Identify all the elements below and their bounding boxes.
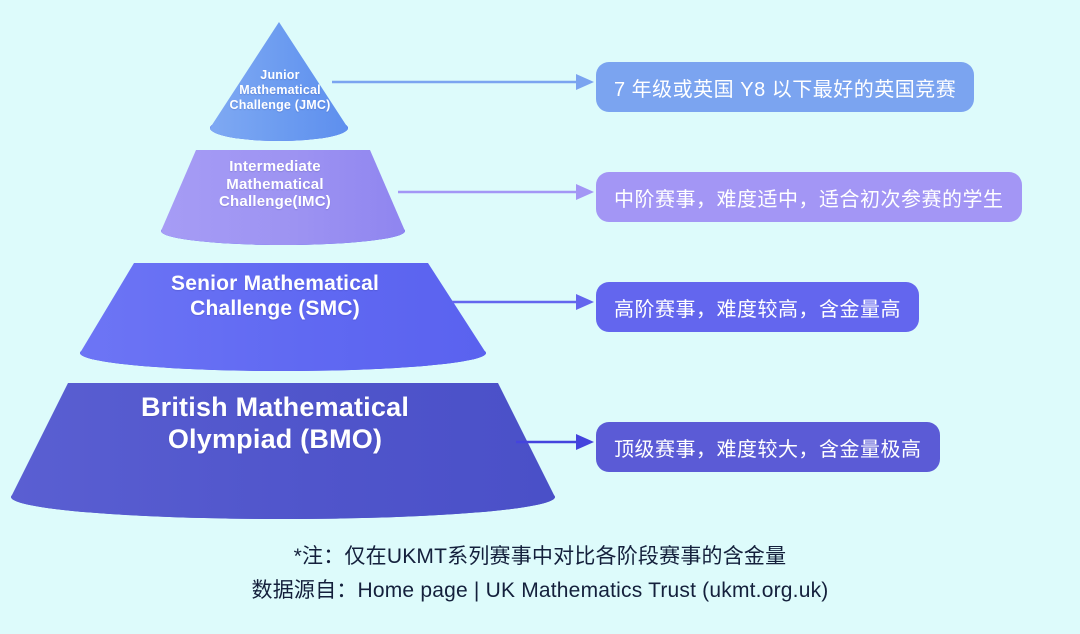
footer-source: 数据源自：Home page | UK Mathematics Trust (u… (0, 574, 1080, 608)
connector-arrow-smc (452, 291, 594, 313)
callout-text-smc: 高阶赛事，难度较高，含金量高 (614, 293, 901, 322)
callout-text-bmo: 顶级赛事，难度较大，含金量极高 (614, 433, 922, 462)
pyramid-tier-jmc (210, 22, 348, 141)
connector-arrow-imc (398, 181, 594, 203)
pyramid-tier-smc (80, 263, 486, 371)
pyramid-tier-imc (161, 150, 405, 245)
tier-face-smc (80, 263, 486, 371)
callout-text-jmc: 7 年级或英国 Y8 以下最好的英国竞赛 (614, 73, 956, 102)
connector-arrow-jmc (332, 71, 594, 93)
tier-face-bmo (11, 383, 555, 519)
pyramid-tier-bmo (11, 383, 555, 519)
callout-jmc: 7 年级或英国 Y8 以下最好的英国竞赛 (596, 62, 974, 112)
infographic-canvas: Junior Mathematical Challenge (JMC) Inte… (0, 0, 1080, 634)
tier-face-jmc (210, 22, 348, 141)
callout-imc: 中阶赛事，难度适中，适合初次参赛的学生 (596, 172, 1022, 222)
callout-text-imc: 中阶赛事，难度适中，适合初次参赛的学生 (614, 183, 1004, 212)
footer: *注：仅在UKMT系列赛事中对比各阶段赛事的含金量 数据源自：Home page… (0, 540, 1080, 608)
footer-note: *注：仅在UKMT系列赛事中对比各阶段赛事的含金量 (0, 540, 1080, 574)
callout-bmo: 顶级赛事，难度较大，含金量极高 (596, 422, 940, 472)
tier-face-imc (161, 150, 405, 245)
connector-arrow-bmo (516, 431, 594, 453)
callout-smc: 高阶赛事，难度较高，含金量高 (596, 282, 919, 332)
